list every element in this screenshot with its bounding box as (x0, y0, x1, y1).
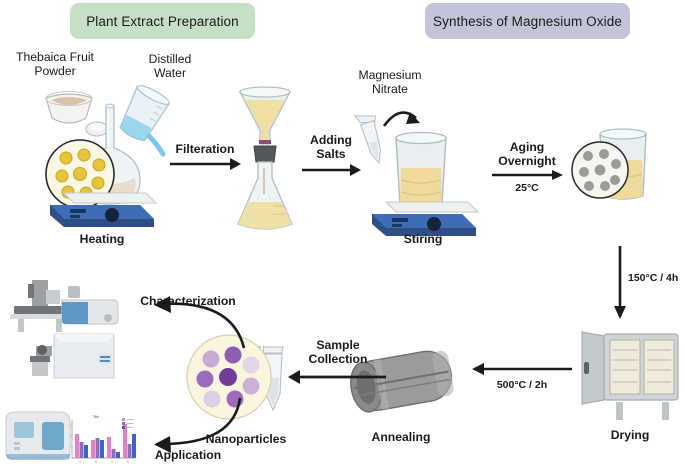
header-synthesis-magnesium-oxide: Synthesis of Magnesium Oxide (425, 3, 630, 39)
drying-oven-icon (578, 330, 682, 422)
svg-text:C: C (111, 460, 113, 464)
microscope-instrument-icon (26, 328, 118, 388)
gray-particles-inset-icon (570, 140, 630, 200)
transition-annealing-condition: 500°C / 2h (470, 362, 576, 391)
label-aging-line2: Overnight (498, 154, 556, 168)
label-sample-collection-line1: Sample (286, 338, 390, 352)
svg-text:A: A (79, 460, 81, 464)
application-bar-chart: Title A B (62, 412, 140, 466)
svg-text:B: B (95, 460, 97, 464)
arrow-left-icon (286, 369, 388, 385)
chart-title: Title (93, 415, 99, 419)
label-annealing-condition: 500°C / 2h (470, 379, 574, 391)
label-filteration: Filteration (176, 142, 235, 156)
label-characterization: Characterization (128, 294, 248, 308)
arrow-left-icon (470, 362, 574, 376)
label-aging-temperature: 25°C (515, 182, 538, 194)
label-application: Application (128, 448, 248, 462)
label-distilled-water: Distilled Water (120, 52, 220, 81)
header-plant-extract-preparation: Plant Extract Preparation (70, 3, 255, 39)
header-synthesis-label: Synthesis of Magnesium Oxide (433, 14, 622, 29)
arrow-down-icon (612, 244, 628, 320)
label-thebaica-fruit-powder: Thebaica Fruit Powder (0, 50, 110, 79)
funnel-filtration-icon (228, 82, 302, 232)
label-adding-salts-line2: Salts (316, 147, 345, 161)
label-stiring: Stiring (362, 232, 484, 246)
arrow-right-icon (490, 169, 564, 182)
label-heating: Heating (42, 232, 162, 246)
label-sample-collection-line2: Collection (286, 352, 390, 366)
label-magnesium-nitrate: Magnesium Nitrate (335, 68, 445, 97)
curved-arrow-application-icon (138, 396, 248, 456)
label-aging-line1: Aging (510, 140, 545, 154)
workflow-diagram: Plant Extract Preparation Synthesis of M… (0, 0, 685, 469)
header-plant-extract-label: Plant Extract Preparation (86, 14, 239, 29)
label-drying-condition: 150°C / 4h (628, 272, 685, 284)
label-annealing: Annealing (336, 430, 466, 444)
label-drying: Drying (578, 428, 682, 442)
analyzer-instrument-icon (58, 284, 120, 330)
hotplate-stirrer-icon (42, 185, 162, 231)
transition-aging-overnight: Aging Overnight 25°C (488, 140, 566, 194)
svg-text:D: D (127, 460, 129, 464)
label-adding-salts-line1: Adding (310, 133, 352, 147)
transition-sample-collection: Sample Collection (286, 338, 390, 385)
